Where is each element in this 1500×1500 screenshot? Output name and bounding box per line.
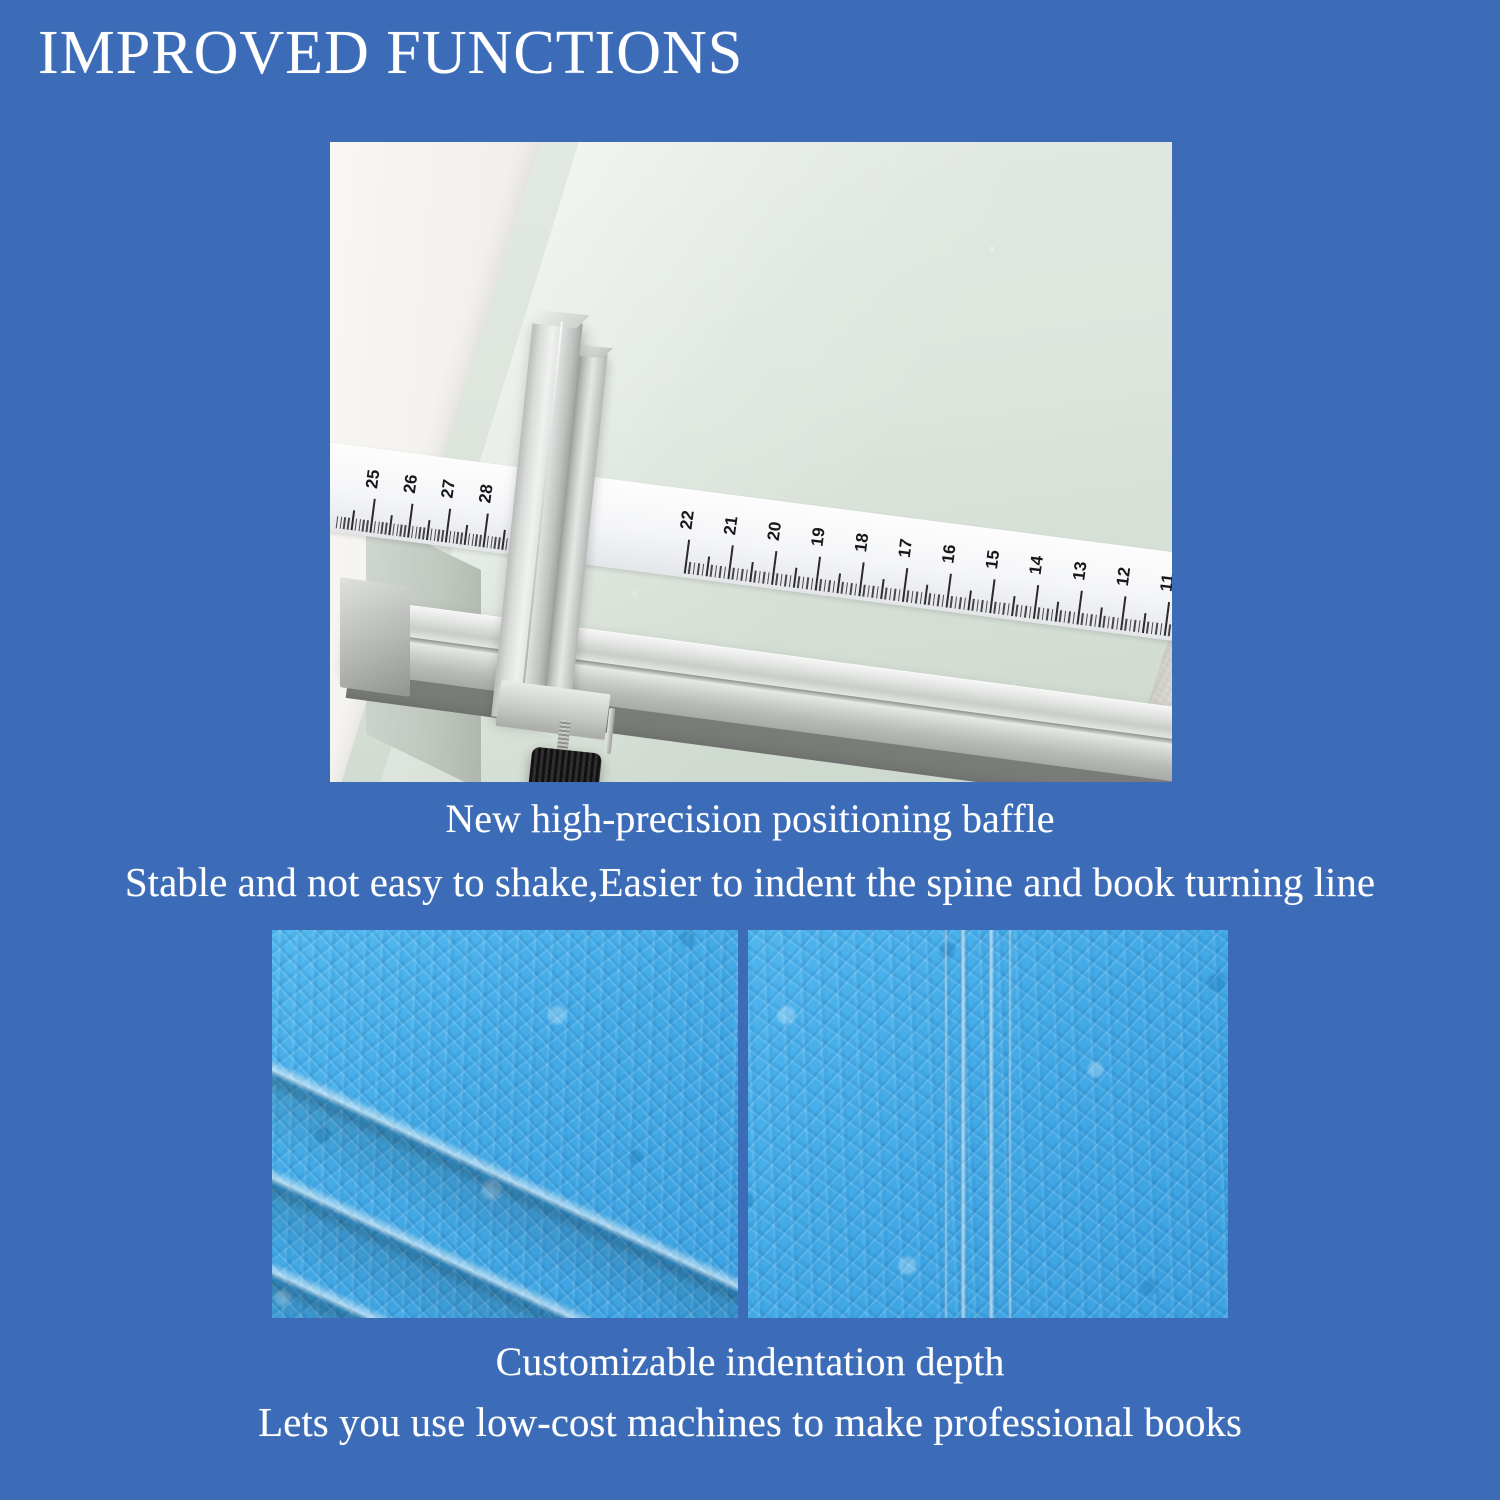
ruler-tick-minor xyxy=(714,565,717,577)
ruler-tick-minor xyxy=(980,600,983,612)
ruler-tick-minor xyxy=(732,568,735,580)
ruler-tick-minor xyxy=(797,576,800,588)
caption-stable-shake: Stable and not easy to shake,Easier to i… xyxy=(0,858,1500,906)
ruler-tick-minor xyxy=(754,570,757,582)
ruler-tick-minor xyxy=(1155,623,1158,635)
ruler-tick-minor xyxy=(1050,609,1053,621)
ruler-tick-minor xyxy=(505,538,508,550)
ruler-tick-minor xyxy=(788,575,791,587)
ruler-tick-minor xyxy=(460,532,463,544)
ruler-tick-minor xyxy=(373,521,376,533)
ruler-tick-minor xyxy=(719,566,722,578)
ruler-tick-minor xyxy=(1138,620,1141,632)
ruler-tick-minor xyxy=(475,534,478,546)
ruler-tick-minor xyxy=(692,563,695,575)
ruler-tick-minor xyxy=(850,583,853,595)
ruler-tick-minor xyxy=(745,569,748,581)
page-title: IMPROVED FUNCTIONS xyxy=(38,22,743,84)
ruler-number-label: 28 xyxy=(475,483,497,504)
ruler-tick-minor xyxy=(430,528,433,540)
ruler-tick-minor xyxy=(919,592,922,604)
ruler-tick-minor xyxy=(1046,608,1049,620)
ruler-tick-minor xyxy=(347,518,350,530)
ruler-tick-minor xyxy=(915,591,918,603)
ruler-tick-minor xyxy=(343,517,346,529)
ruler-tick-minor xyxy=(415,526,418,538)
ruler-number-label: 22 xyxy=(677,509,699,530)
ruler-tick-minor xyxy=(688,562,691,574)
ruler-tick-minor xyxy=(810,578,813,590)
ruler-tick-minor xyxy=(889,588,892,600)
ruler-tick-minor xyxy=(880,579,884,599)
ruler-tick-minor xyxy=(749,562,753,582)
ruler-tick-minor xyxy=(906,590,909,602)
ruler-tick-minor xyxy=(967,590,971,610)
ruler-tick-minor xyxy=(758,571,761,583)
ruler-tick-minor xyxy=(403,525,406,537)
ruler-tick-minor xyxy=(1015,604,1018,616)
rail-end-cap xyxy=(340,577,410,697)
ruler-number-label: 17 xyxy=(895,538,917,559)
ruler-tick-minor xyxy=(1116,618,1119,630)
ruler-tick-minor xyxy=(697,563,700,575)
ruler-tick-minor xyxy=(701,564,704,576)
ruler-tick-minor xyxy=(1042,608,1045,620)
ruler-tick-minor xyxy=(994,602,997,614)
ruler-tick-minor xyxy=(384,523,387,535)
ruler-tick-minor xyxy=(740,569,743,581)
ruler-tick-minor xyxy=(479,535,482,547)
ruler-tick-minor xyxy=(1024,606,1027,618)
ruler-tick-minor xyxy=(1007,603,1010,615)
ruler-tick-minor xyxy=(1111,617,1114,629)
ruler-tick-minor xyxy=(396,524,399,536)
ruler-tick-minor xyxy=(806,577,809,589)
ruler-tick-minor xyxy=(1107,616,1110,628)
ruler-tick-minor xyxy=(411,526,414,538)
ruler-tick-minor xyxy=(1129,619,1132,631)
ruler-tick-minor xyxy=(498,537,501,549)
ruler-tick-minor xyxy=(876,586,879,598)
ruler-tick-minor xyxy=(1151,622,1154,634)
ruler-tick-minor xyxy=(1059,610,1062,622)
ruler-tick-minor xyxy=(494,537,497,549)
ruler-tick-minor xyxy=(976,599,979,611)
ruler-tick-minor xyxy=(392,524,395,536)
ruler-tick-minor xyxy=(1011,596,1015,616)
spine-crease-4 xyxy=(1008,930,1012,1318)
ruler-tick-minor xyxy=(1028,606,1031,618)
ruler-tick-minor xyxy=(924,585,928,605)
ruler-tick-minor xyxy=(932,594,935,606)
ruler-tick-minor xyxy=(775,573,778,585)
ruler-tick-minor xyxy=(1085,614,1088,626)
ruler-tick-minor xyxy=(358,519,361,531)
ruler-number-label: 19 xyxy=(807,526,829,547)
ruler-tick-minor xyxy=(1068,611,1071,623)
ruler-tick-minor xyxy=(1002,603,1005,615)
ruler-tick-minor xyxy=(1094,615,1097,627)
ruler-number-label: 21 xyxy=(720,515,742,536)
ruler-tick-minor xyxy=(723,567,726,579)
ruler-tick-minor xyxy=(1133,620,1136,632)
ruler-tick-minor xyxy=(767,572,770,584)
ruler-tick-minor xyxy=(1090,614,1093,626)
ruler-tick-minor xyxy=(1072,612,1075,624)
ruler-tick-minor xyxy=(335,516,338,528)
ruler-number-label: 20 xyxy=(764,521,786,542)
ruler-tick-minor xyxy=(366,520,369,532)
ruler-tick-minor xyxy=(959,597,962,609)
ruler-tick-minor xyxy=(1098,607,1102,627)
caption-customizable-depth: Customizable indentation depth xyxy=(0,1338,1500,1385)
ruler-number-label: 25 xyxy=(362,468,384,489)
ruler-tick-minor xyxy=(950,596,953,608)
ruler-tick-minor xyxy=(1081,613,1084,625)
photo-spine-indentation xyxy=(748,930,1228,1318)
ruler-tick-minor xyxy=(841,582,844,594)
ruler-tick-minor xyxy=(1159,623,1162,635)
ruler-tick-minor xyxy=(471,534,474,546)
ruler-number-label: 11 xyxy=(1157,573,1172,593)
ruler-number-label: 26 xyxy=(400,473,422,494)
ruler-tick-minor xyxy=(941,595,944,607)
photo-creased-covers xyxy=(272,930,738,1318)
ruler-tick-minor xyxy=(836,573,840,593)
ruler-tick-minor xyxy=(354,519,357,531)
ruler-tick-minor xyxy=(433,529,436,541)
ruler-number-label: 27 xyxy=(438,478,460,499)
ruler-tick-minor xyxy=(963,598,966,610)
ruler-tick-minor xyxy=(928,593,931,605)
ruler-number-label: 12 xyxy=(1113,566,1135,587)
ruler-tick-minor xyxy=(802,577,805,589)
ruler-tick-minor xyxy=(736,568,739,580)
ruler-tick-minor xyxy=(898,589,901,601)
ruler-tick-minor xyxy=(972,599,975,611)
ruler-tick-minor xyxy=(449,531,452,543)
ruler-tick-minor xyxy=(1063,611,1066,623)
ruler-tick-minor xyxy=(710,565,713,577)
ruler-tick-minor xyxy=(437,529,440,541)
ruler-tick-minor xyxy=(823,580,826,592)
ruler-number-label: 15 xyxy=(982,549,1004,570)
ruler-tick-minor xyxy=(819,579,822,591)
ruler-number-label: 13 xyxy=(1069,560,1091,581)
ruler-tick-minor xyxy=(832,581,835,593)
ruler-tick-minor xyxy=(339,517,342,529)
ruler-tick-minor xyxy=(884,587,887,599)
ruler-tick-minor xyxy=(706,556,710,576)
ruler-tick-minor xyxy=(452,531,455,543)
ruler-tick-minor xyxy=(828,580,831,592)
ruler-tick-minor xyxy=(762,572,765,584)
ruler-tick-minor xyxy=(871,586,874,598)
ruler-tick-minor xyxy=(1103,616,1106,628)
ruler-tick-minor xyxy=(422,527,425,539)
baffle-lock-knob xyxy=(526,747,602,782)
caption-low-cost-machines: Lets you use low-cost machines to make p… xyxy=(0,1398,1500,1446)
ruler-tick-minor xyxy=(377,522,380,534)
ruler-tick-minor xyxy=(456,532,459,544)
ruler-tick-minor xyxy=(1124,619,1127,631)
hero-photo-baffle: 2928272625222120191817161514131211109 xyxy=(330,142,1172,782)
ruler-tick-minor xyxy=(780,574,783,586)
ruler-tick-minor xyxy=(418,527,421,539)
ruler-tick-minor xyxy=(400,525,403,537)
spine-crease-3 xyxy=(988,930,995,1318)
ruler-tick-minor xyxy=(1037,607,1040,619)
ruler-tick-minor xyxy=(985,601,988,613)
ruler-number-label: 18 xyxy=(851,532,873,553)
ruler-tick-minor xyxy=(998,602,1001,614)
ruler-tick-minor xyxy=(937,594,940,606)
ruler-tick-minor xyxy=(911,591,914,603)
ruler-tick-minor xyxy=(845,582,848,594)
ruler-tick-minor xyxy=(1146,621,1149,633)
ruler-tick-minor xyxy=(867,585,870,597)
ruler-tick-minor xyxy=(863,585,866,597)
ruler-tick-minor xyxy=(441,530,444,542)
ruler-number-label: 14 xyxy=(1026,555,1048,576)
ruler-tick-minor xyxy=(362,520,365,532)
ruler-tick-minor xyxy=(854,584,857,596)
ruler-tick-minor xyxy=(1020,605,1023,617)
ruler-tick-minor xyxy=(1168,624,1171,636)
ruler-tick-minor xyxy=(954,597,957,609)
ruler-tick-minor xyxy=(1142,613,1146,633)
ruler-tick-minor xyxy=(1055,602,1059,622)
ruler-tick-minor xyxy=(784,574,787,586)
ruler-tick-minor xyxy=(486,536,489,548)
caption-new-baffle: New high-precision positioning baffle xyxy=(0,795,1500,842)
ruler-tick-minor xyxy=(381,522,384,534)
ruler-tick-minor xyxy=(490,536,493,548)
ruler-tick-minor xyxy=(893,589,896,601)
ruler-tick-minor xyxy=(467,533,470,545)
spine-crease-1 xyxy=(944,930,948,1318)
ruler-number-label: 16 xyxy=(938,543,960,564)
ruler-tick-minor xyxy=(793,568,797,588)
spine-crease-2 xyxy=(960,930,967,1318)
